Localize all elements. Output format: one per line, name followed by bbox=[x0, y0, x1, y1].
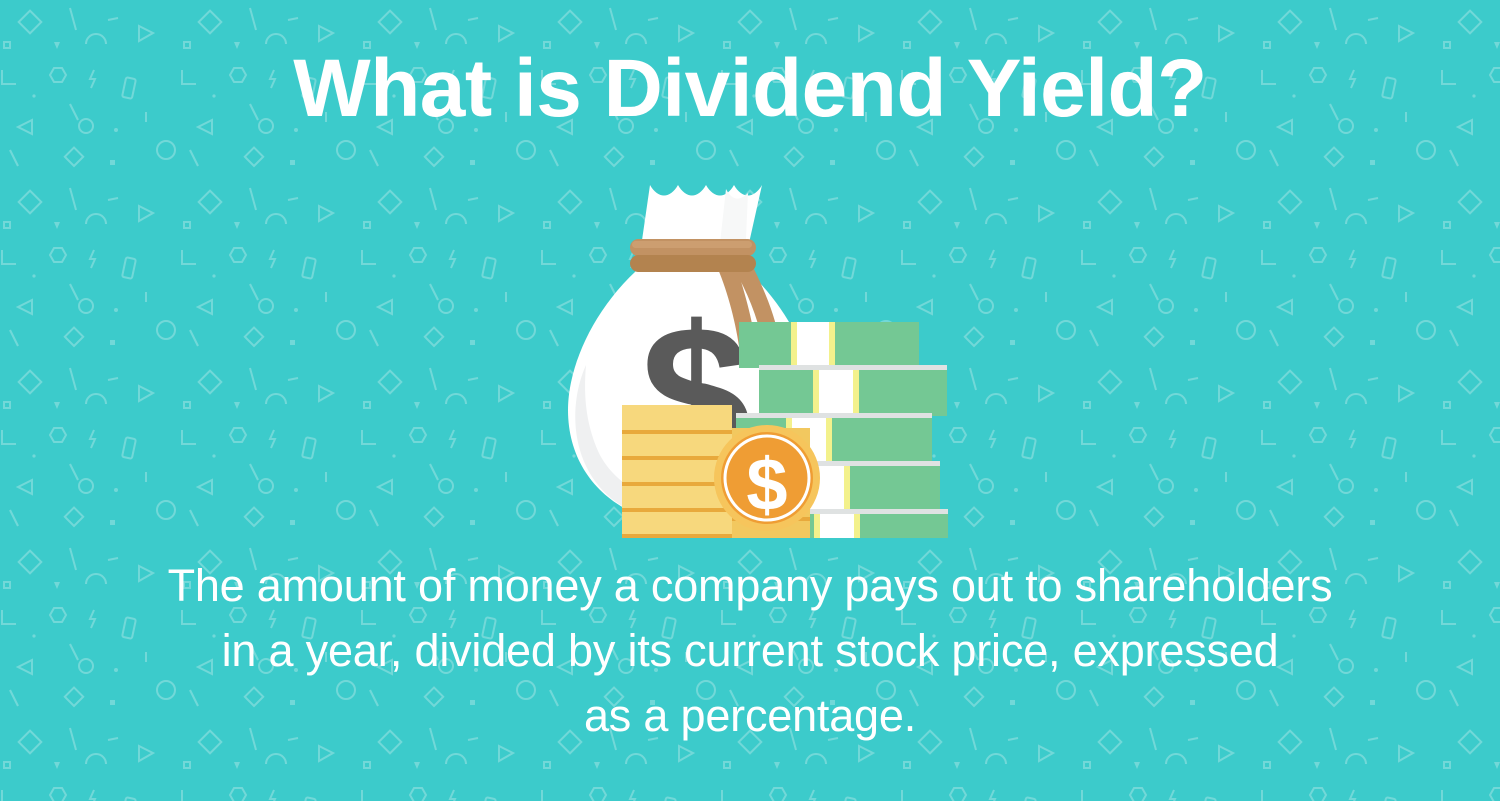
page-title: What is Dividend Yield? bbox=[0, 46, 1500, 132]
cash-bundle bbox=[739, 322, 919, 368]
svg-text:$: $ bbox=[746, 443, 787, 526]
cash-bundle bbox=[759, 365, 947, 416]
infographic-canvas: What is Dividend Yield? $ bbox=[0, 0, 1500, 801]
body-line-3: as a percentage. bbox=[0, 683, 1500, 748]
body-line-1: The amount of money a company pays out t… bbox=[0, 553, 1500, 618]
dollar-coin: $ bbox=[714, 425, 820, 531]
body-paragraph: The amount of money a company pays out t… bbox=[0, 553, 1500, 748]
money-bag-illustration: $ bbox=[540, 165, 980, 540]
body-line-2: in a year, divided by its current stock … bbox=[0, 618, 1500, 683]
